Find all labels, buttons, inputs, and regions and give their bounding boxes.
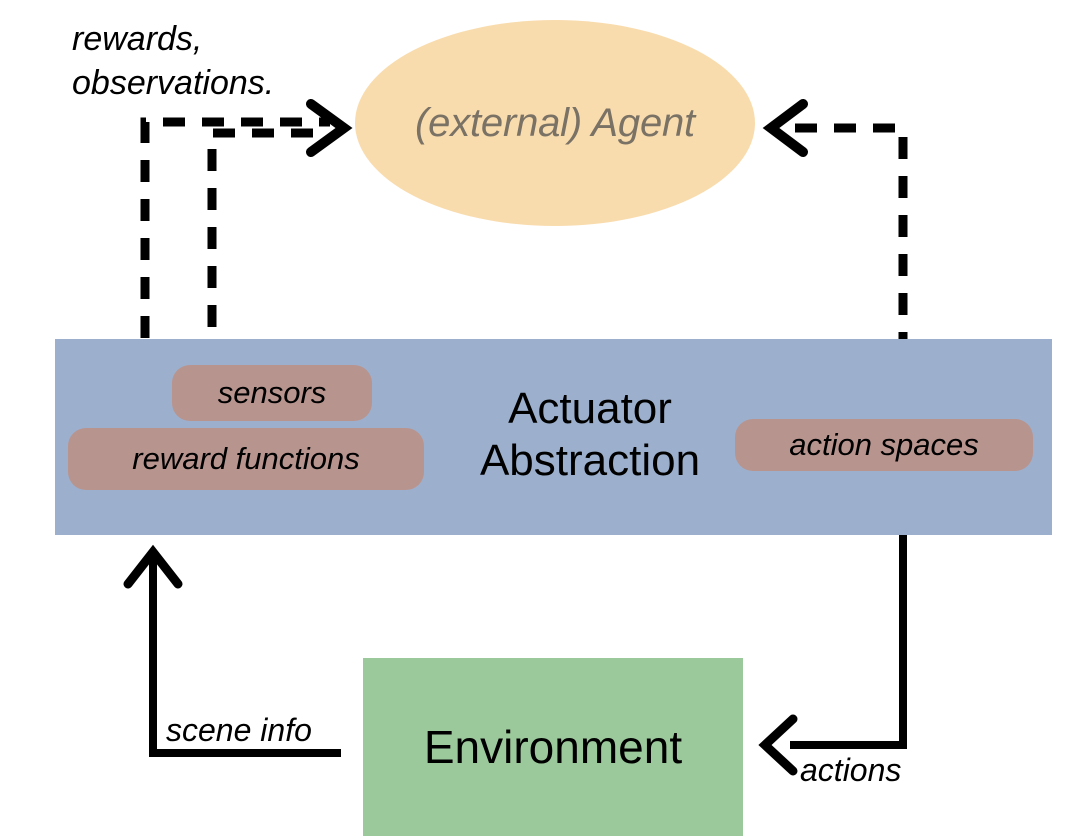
agent-node[interactable]: (external) Agent bbox=[355, 20, 755, 226]
chip-sensors[interactable]: sensors bbox=[172, 365, 372, 421]
chip-reward-functions-label: reward functions bbox=[132, 441, 359, 477]
environment-node[interactable]: Environment bbox=[363, 658, 743, 836]
chip-action-spaces-label: action spaces bbox=[789, 427, 979, 463]
chip-sensors-label: sensors bbox=[218, 375, 327, 411]
diagram-canvas: (external) Agent Actuator Abstraction se… bbox=[0, 0, 1091, 836]
chip-reward-functions[interactable]: reward functions bbox=[68, 428, 424, 490]
arrowhead-into-agent-right-icon bbox=[771, 104, 803, 152]
label-actions: actions bbox=[800, 752, 901, 789]
arrowhead-actions-icon bbox=[765, 719, 793, 771]
label-scene-info: scene info bbox=[166, 712, 312, 749]
actuator-abstraction-title: Actuator Abstraction bbox=[430, 383, 750, 487]
edge-sensors-to-agent bbox=[212, 133, 322, 366]
environment-label: Environment bbox=[424, 720, 682, 774]
agent-label: (external) Agent bbox=[415, 101, 695, 146]
arrowhead-into-agent-icon bbox=[311, 104, 344, 152]
chip-action-spaces[interactable]: action spaces bbox=[735, 419, 1033, 471]
label-rewards-observations: rewards, observations. bbox=[72, 18, 274, 105]
arrowhead-scene-info-icon bbox=[128, 552, 178, 584]
